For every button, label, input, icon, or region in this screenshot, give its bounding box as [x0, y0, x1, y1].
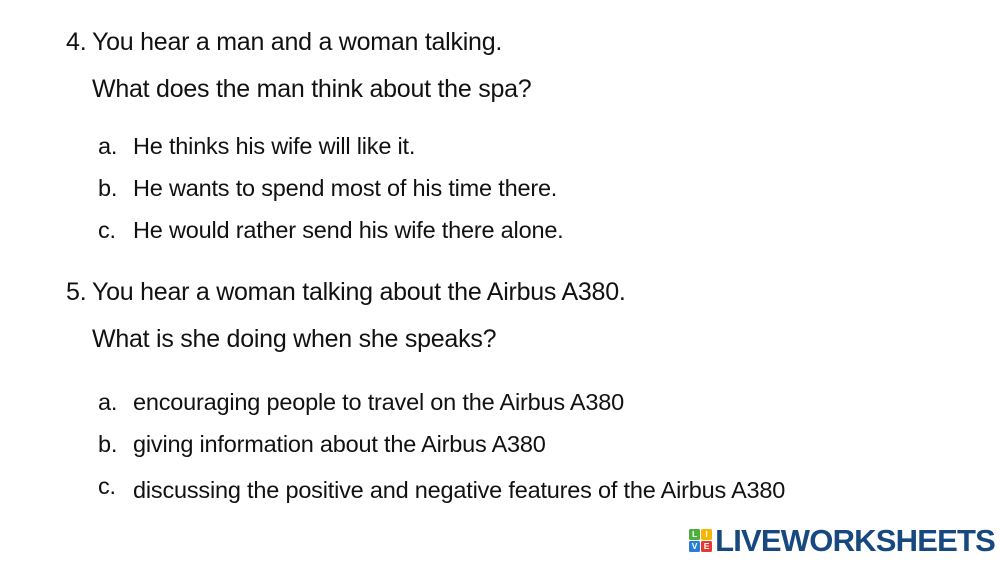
liveworksheets-logo[interactable]: L I V E LIVEWORKSHEETS	[689, 525, 995, 556]
question-number-4: 4.	[66, 26, 87, 59]
question-stem-line-1: You hear a man and a woman talking.	[92, 26, 966, 59]
option-letter-5-b: b.	[98, 428, 117, 460]
worksheet-page: 4. You hear a man and a woman talking. W…	[0, 0, 1000, 562]
option-letter-5-a: a.	[98, 386, 117, 418]
liveworksheets-wordmark: LIVEWORKSHEETS	[715, 525, 995, 556]
options-list-4: a. He thinks his wife will like it. b. H…	[66, 130, 966, 246]
option-text-4-a: He thinks his wife will like it.	[133, 130, 966, 162]
options-list-5: a. encouraging people to travel on the A…	[66, 386, 966, 511]
option-text-4-b: He wants to spend most of his time there…	[133, 172, 966, 204]
liveworksheets-logo-tiles: L I V E	[689, 529, 712, 552]
option-5-a[interactable]: a. encouraging people to travel on the A…	[98, 386, 966, 418]
option-letter-4-a: a.	[98, 130, 117, 162]
option-4-b[interactable]: b. He wants to spend most of his time th…	[98, 172, 966, 204]
option-4-c[interactable]: c. He would rather send his wife there a…	[98, 214, 966, 246]
question-block-4: 4. You hear a man and a woman talking. W…	[66, 26, 966, 246]
question-stem-4: 4. You hear a man and a woman talking. W…	[66, 26, 966, 106]
logo-tile-i-icon: I	[701, 529, 712, 540]
option-4-a[interactable]: a. He thinks his wife will like it.	[98, 130, 966, 162]
logo-tile-v-icon: V	[689, 541, 700, 552]
option-text-5-a: encouraging people to travel on the Airb…	[133, 386, 966, 418]
question-number-5: 5.	[66, 276, 87, 309]
option-text-4-c: He would rather send his wife there alon…	[133, 214, 966, 246]
logo-tile-l-icon: L	[689, 529, 700, 540]
option-letter-5-c: c.	[98, 470, 116, 502]
option-text-5-b: giving information about the Airbus A380	[133, 428, 966, 460]
option-letter-4-c: c.	[98, 214, 116, 246]
option-5-b[interactable]: b. giving information about the Airbus A…	[98, 428, 966, 460]
option-text-5-c: discussing the positive and negative fea…	[133, 470, 823, 511]
logo-tile-e-icon: E	[701, 541, 712, 552]
question-stem-5: 5. You hear a woman talking about the Ai…	[66, 276, 966, 356]
option-letter-4-b: b.	[98, 172, 117, 204]
question-block-5: 5. You hear a woman talking about the Ai…	[66, 276, 966, 521]
question-stem-line-2: What is she doing when she speaks?	[92, 323, 966, 356]
option-5-c[interactable]: c. discussing the positive and negative …	[98, 470, 966, 511]
question-stem-line-2: What does the man think about the spa?	[92, 73, 966, 106]
question-stem-line-1: You hear a woman talking about the Airbu…	[92, 276, 966, 309]
